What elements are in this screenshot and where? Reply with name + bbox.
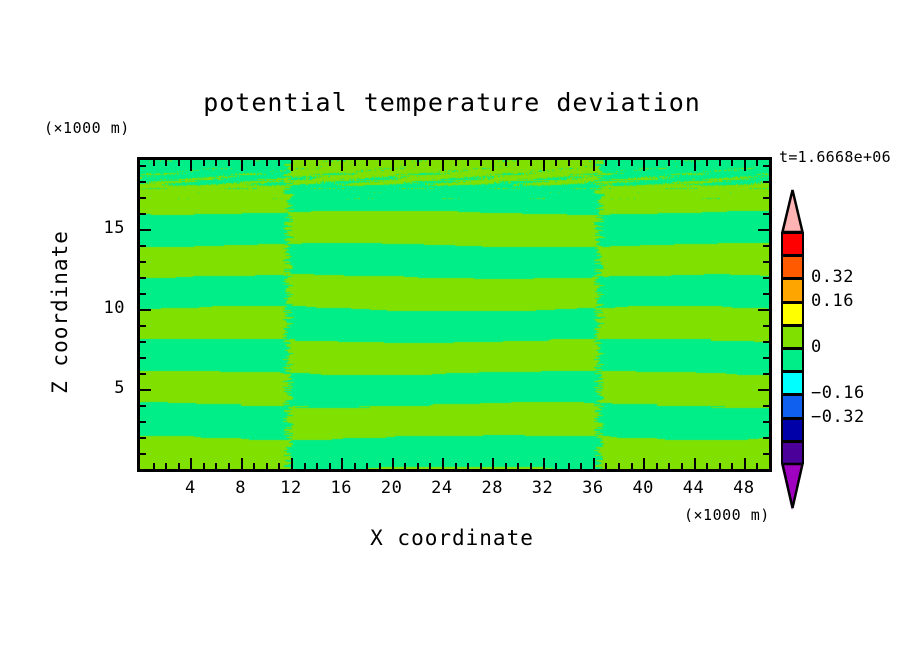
x-minor-tick xyxy=(178,463,180,469)
timestamp-label: t=1.6668e+06 xyxy=(779,148,891,166)
x-minor-tick-top xyxy=(568,160,570,166)
x-minor-tick xyxy=(668,463,670,469)
x-minor-tick xyxy=(706,463,708,469)
y-minor-tick-right xyxy=(763,405,769,407)
y-minor-tick-right xyxy=(763,437,769,439)
x-minor-tick xyxy=(618,463,620,469)
x-minor-tick-top xyxy=(253,160,255,166)
y-minor-tick xyxy=(140,357,146,359)
y-major-tick-right xyxy=(758,229,769,231)
x-minor-tick-top xyxy=(605,160,607,166)
colorbar-band xyxy=(781,441,804,464)
x-major-tick xyxy=(643,458,645,469)
x-minor-tick-top xyxy=(731,160,733,166)
colorbar-band xyxy=(781,348,804,371)
x-minor-tick xyxy=(354,463,356,469)
x-tick-label: 12 xyxy=(271,478,311,498)
x-minor-tick-top xyxy=(316,160,318,166)
x-minor-tick-top xyxy=(165,160,167,166)
colorbar-band xyxy=(781,371,804,394)
x-tick-label: 8 xyxy=(221,478,261,498)
x-major-tick xyxy=(694,458,696,469)
x-tick-label: 48 xyxy=(724,478,764,498)
x-minor-tick xyxy=(467,463,469,469)
y-minor-tick xyxy=(140,405,146,407)
page-title: potential temperature deviation xyxy=(0,88,904,117)
x-minor-tick-top xyxy=(404,160,406,166)
x-major-tick-top xyxy=(392,160,394,171)
x-tick-label: 20 xyxy=(372,478,412,498)
y-minor-tick-right xyxy=(763,245,769,247)
x-minor-tick xyxy=(316,463,318,469)
x-tick-label: 36 xyxy=(573,478,613,498)
y-major-tick-right xyxy=(758,309,769,311)
colorbar-band xyxy=(781,325,804,348)
x-minor-tick xyxy=(517,463,519,469)
x-minor-tick-top xyxy=(429,160,431,166)
x-minor-tick xyxy=(656,463,658,469)
colorbar-band xyxy=(781,418,804,441)
x-minor-tick-top xyxy=(530,160,532,166)
x-minor-tick-top xyxy=(580,160,582,166)
y-minor-tick xyxy=(140,213,146,215)
x-minor-tick xyxy=(480,463,482,469)
y-major-tick xyxy=(140,389,151,391)
x-tick-label: 28 xyxy=(472,478,512,498)
x-minor-tick-top xyxy=(668,160,670,166)
y-minor-tick xyxy=(140,421,146,423)
x-minor-tick xyxy=(304,463,306,469)
y-minor-tick xyxy=(140,437,146,439)
y-minor-tick xyxy=(140,453,146,455)
x-minor-tick-top xyxy=(505,160,507,166)
x-minor-tick-top xyxy=(719,160,721,166)
x-major-tick xyxy=(190,458,192,469)
x-minor-tick-top xyxy=(329,160,331,166)
y-major-tick xyxy=(140,309,151,311)
x-major-tick-top xyxy=(543,160,545,171)
y-major-tick xyxy=(140,229,151,231)
x-major-tick-top xyxy=(442,160,444,171)
x-minor-tick-top xyxy=(203,160,205,166)
x-minor-tick xyxy=(605,463,607,469)
x-major-tick xyxy=(291,458,293,469)
x-minor-tick-top xyxy=(153,160,155,166)
x-minor-tick-top xyxy=(656,160,658,166)
y-minor-tick-right xyxy=(763,453,769,455)
x-major-tick xyxy=(442,458,444,469)
x-minor-tick-top xyxy=(417,160,419,166)
y-minor-tick-right xyxy=(763,165,769,167)
y-minor-tick-right xyxy=(763,213,769,215)
x-major-tick-top xyxy=(643,160,645,171)
y-minor-tick-right xyxy=(763,293,769,295)
colorbar-band xyxy=(781,232,804,255)
x-minor-tick xyxy=(228,463,230,469)
x-minor-tick-top xyxy=(517,160,519,166)
figure-canvas: potential temperature deviation (×1000 m… xyxy=(0,0,904,654)
y-minor-tick xyxy=(140,277,146,279)
x-major-tick xyxy=(392,458,394,469)
x-minor-tick-top xyxy=(467,160,469,166)
x-tick-label: 32 xyxy=(523,478,563,498)
x-minor-tick xyxy=(203,463,205,469)
colorbar xyxy=(781,232,804,464)
colorbar-band xyxy=(781,278,804,301)
x-major-tick xyxy=(492,458,494,469)
y-tick-label: 15 xyxy=(85,218,125,238)
colorbar-band xyxy=(781,302,804,325)
x-minor-tick xyxy=(631,463,633,469)
x-major-tick-top xyxy=(241,160,243,171)
colorbar-tick-label: −0.32 xyxy=(811,407,865,427)
x-major-tick xyxy=(241,458,243,469)
y-tick-label: 10 xyxy=(85,298,125,318)
x-minor-tick xyxy=(756,463,758,469)
x-minor-tick xyxy=(719,463,721,469)
x-minor-tick-top xyxy=(756,160,758,166)
colorbar-tick-label: 0.32 xyxy=(811,267,854,287)
x-minor-tick xyxy=(731,463,733,469)
x-minor-tick-top xyxy=(631,160,633,166)
contour-plot-area xyxy=(137,157,772,472)
y-minor-tick-right xyxy=(763,341,769,343)
y-major-tick-right xyxy=(758,389,769,391)
y-minor-tick-right xyxy=(763,373,769,375)
y-tick-label: 5 xyxy=(85,378,125,398)
y-minor-tick xyxy=(140,197,146,199)
y-minor-tick-right xyxy=(763,181,769,183)
x-minor-tick-top xyxy=(618,160,620,166)
y-axis-unit-label: (×1000 m) xyxy=(44,119,130,137)
x-minor-tick xyxy=(215,463,217,469)
x-minor-tick-top xyxy=(228,160,230,166)
colorbar-tick-label: 0 xyxy=(811,337,822,357)
x-minor-tick xyxy=(530,463,532,469)
x-major-tick xyxy=(341,458,343,469)
x-minor-tick-top xyxy=(706,160,708,166)
x-tick-label: 4 xyxy=(170,478,210,498)
x-minor-tick xyxy=(253,463,255,469)
y-minor-tick-right xyxy=(763,357,769,359)
colorbar-band xyxy=(781,255,804,278)
x-minor-tick xyxy=(266,463,268,469)
x-tick-label: 24 xyxy=(422,478,462,498)
x-minor-tick xyxy=(278,463,280,469)
x-major-tick-top xyxy=(744,160,746,171)
x-major-tick-top xyxy=(492,160,494,171)
x-minor-tick xyxy=(329,463,331,469)
y-minor-tick xyxy=(140,245,146,247)
x-minor-tick-top xyxy=(354,160,356,166)
y-minor-tick xyxy=(140,325,146,327)
x-axis-unit-label: (×1000 m) xyxy=(684,506,770,524)
colorbar-over-arrow xyxy=(781,190,803,232)
y-minor-tick-right xyxy=(763,277,769,279)
x-minor-tick-top xyxy=(178,160,180,166)
y-minor-tick xyxy=(140,341,146,343)
x-axis-title: X coordinate xyxy=(0,526,904,550)
x-minor-tick-top xyxy=(379,160,381,166)
colorbar-band xyxy=(781,394,804,417)
colorbar-under-arrow xyxy=(781,464,803,510)
y-minor-tick xyxy=(140,165,146,167)
contour-field xyxy=(140,160,769,469)
x-minor-tick-top xyxy=(555,160,557,166)
x-minor-tick-top xyxy=(681,160,683,166)
x-minor-tick xyxy=(681,463,683,469)
x-major-tick-top xyxy=(694,160,696,171)
x-minor-tick xyxy=(505,463,507,469)
y-minor-tick xyxy=(140,293,146,295)
x-minor-tick xyxy=(580,463,582,469)
x-major-tick-top xyxy=(291,160,293,171)
y-minor-tick xyxy=(140,181,146,183)
y-minor-tick xyxy=(140,373,146,375)
x-minor-tick xyxy=(555,463,557,469)
x-minor-tick-top xyxy=(278,160,280,166)
x-major-tick-top xyxy=(341,160,343,171)
x-minor-tick xyxy=(165,463,167,469)
x-major-tick-top xyxy=(190,160,192,171)
x-minor-tick-top xyxy=(366,160,368,166)
y-minor-tick-right xyxy=(763,421,769,423)
x-minor-tick-top xyxy=(215,160,217,166)
x-minor-tick xyxy=(455,463,457,469)
x-tick-label: 44 xyxy=(674,478,714,498)
x-tick-label: 40 xyxy=(623,478,663,498)
x-minor-tick xyxy=(404,463,406,469)
x-major-tick xyxy=(543,458,545,469)
x-minor-tick-top xyxy=(304,160,306,166)
x-minor-tick-top xyxy=(455,160,457,166)
x-minor-tick-top xyxy=(266,160,268,166)
x-minor-tick xyxy=(153,463,155,469)
x-minor-tick xyxy=(417,463,419,469)
y-minor-tick-right xyxy=(763,197,769,199)
y-axis-title: Z coordinate xyxy=(48,212,72,412)
x-minor-tick xyxy=(568,463,570,469)
x-minor-tick xyxy=(379,463,381,469)
x-major-tick xyxy=(744,458,746,469)
y-minor-tick-right xyxy=(763,325,769,327)
colorbar-tick-label: −0.16 xyxy=(811,383,865,403)
x-major-tick xyxy=(593,458,595,469)
y-minor-tick xyxy=(140,261,146,263)
y-minor-tick-right xyxy=(763,261,769,263)
colorbar-tick-label: 0.16 xyxy=(811,291,854,311)
x-minor-tick xyxy=(429,463,431,469)
x-tick-label: 16 xyxy=(321,478,361,498)
x-minor-tick xyxy=(366,463,368,469)
x-minor-tick-top xyxy=(480,160,482,166)
x-major-tick-top xyxy=(593,160,595,171)
